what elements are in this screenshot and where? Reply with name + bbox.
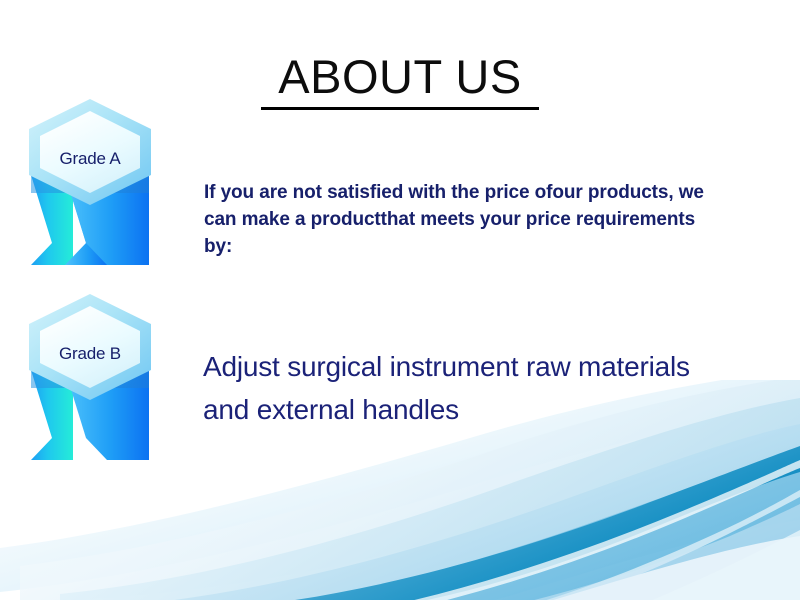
wave-layer-lower-pale <box>430 530 800 600</box>
wave-layer-lower-tint <box>300 504 800 600</box>
intro-paragraph: If you are not satisfied with the price … <box>204 180 704 261</box>
about-us-slide: ABOUT US If you are not satisfied with t… <box>0 0 800 600</box>
badge-grade-a-icon <box>23 97 157 269</box>
title-underline <box>261 107 539 110</box>
wave-layer-light <box>120 424 800 600</box>
title-block: ABOUT US <box>190 52 610 110</box>
headline-statement: Adjust surgical instrument raw materials… <box>203 345 723 432</box>
wave-layer-deep <box>230 446 800 600</box>
badge-grade-b-icon <box>23 292 157 464</box>
badge-grade-b: Grade B <box>23 292 157 464</box>
badge-grade-a: Grade A <box>23 97 157 269</box>
page-title: ABOUT US <box>190 52 610 101</box>
wave-layer-mid <box>175 454 800 600</box>
wave-highlight-1 <box>250 460 800 600</box>
wave-highlight-2 <box>420 490 800 600</box>
